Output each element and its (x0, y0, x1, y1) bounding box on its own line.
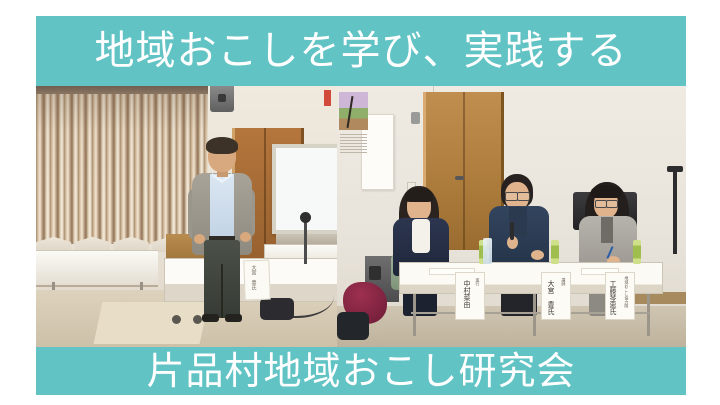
tea-bottle (633, 240, 641, 264)
microphone-icon (300, 212, 311, 223)
nameplate-3-role: 地域おこし協力隊 (624, 276, 628, 308)
poster-text-block (340, 134, 367, 154)
lecturer-hair (206, 137, 238, 154)
table-leg (413, 294, 416, 336)
curtain-shadow (36, 84, 208, 244)
nameplate-1-role: 進行 (475, 278, 479, 286)
door-seam (463, 92, 465, 250)
photo-lecture: 大宮 豊氏 (36, 84, 337, 348)
nameplate-2 (541, 272, 571, 320)
equipment-bag (260, 298, 294, 320)
nameplate-2-name: 大宮 豊氏 (547, 280, 555, 315)
dark-bag (337, 312, 369, 340)
cabinet-door-panel (369, 266, 381, 280)
photo-panel: 中村菜由 進行 大宮 豊氏 講師 工藤琴恵氏 地域おこし協力隊 (337, 84, 686, 348)
panelist-3-hair-front (591, 185, 621, 198)
fire-alarm-icon (324, 90, 331, 106)
slide-canvas: 地域おこしを学び、実践する (0, 0, 720, 405)
panelist-2-gesture-hand (531, 250, 544, 260)
stand-pole (673, 170, 677, 254)
trouser-seam (221, 264, 223, 318)
panelist-3-inner-top (601, 217, 613, 243)
nameplate-3-name: 工藤琴恵氏 (609, 280, 617, 315)
handheld-microphone-icon (510, 222, 514, 240)
poster-illustration (339, 92, 368, 130)
panelist-2-glasses-right (517, 192, 530, 201)
table-leg (647, 294, 650, 336)
tea-bottle (551, 240, 559, 264)
table-leg (533, 294, 536, 336)
speaker-grille-icon (218, 94, 226, 102)
lecturer-right-hand (240, 232, 251, 242)
panelist-3-glasses-right (606, 200, 618, 208)
door-lock-icon (411, 112, 420, 124)
panelist-1-blouse (412, 219, 430, 253)
lecturer-shoe (202, 314, 219, 322)
nameplate-1-name: 中村菜由 (463, 280, 471, 308)
lecturer-shoe (225, 314, 242, 322)
panelist-1-hair-front (405, 188, 433, 202)
title-banner: 地域おこしを学び、実践する (36, 16, 686, 86)
water-bottle (483, 238, 492, 264)
organization-name: 片品村地域おこし研究会 (146, 352, 575, 390)
photo-strip: 大宮 豊氏 (36, 84, 686, 348)
door-handle-icon (455, 176, 464, 180)
lecturer-left-hand (194, 234, 205, 244)
lecturer-shirt (210, 174, 234, 236)
nameplate-2-role: 講師 (561, 278, 565, 286)
organization-banner: 片品村地域おこし研究会 (36, 347, 686, 395)
page-title: 地域おこしを学び、実践する (95, 31, 628, 71)
microphone-stand (304, 218, 307, 264)
table-nameplate (243, 260, 270, 301)
table-nameplate-label: 大宮 豊氏 (250, 265, 256, 290)
